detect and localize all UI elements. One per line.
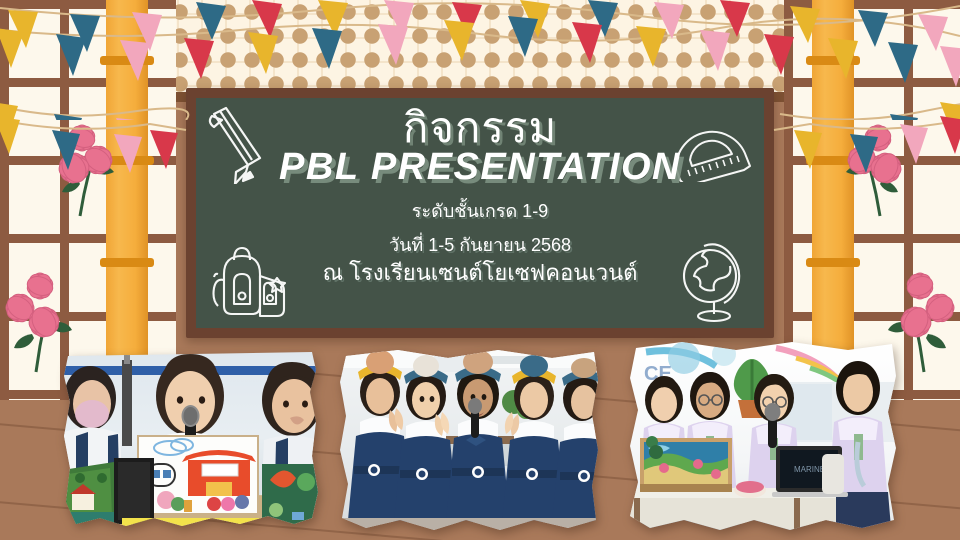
subtitle-date: วันที่ 1-5 กันยายน 2568	[196, 233, 764, 257]
poster-canvas: กิจกรรม PBL PRESENTATION ระดับชั้นเกรด 1…	[0, 0, 960, 540]
photo1-caption: SARISA G.1/1	[130, 522, 221, 538]
photo-diorama-presentation[interactable]: SARISA G.1/1	[62, 352, 320, 540]
bunting-decoration-side	[0, 100, 960, 200]
subtitle-grade: ระดับชั้นเกรด 1-9	[196, 199, 764, 223]
photo-group-performance[interactable]	[338, 350, 600, 540]
subtitle-venue: ณ โรงเรียนเซนต์โยเซฟคอนเวนต์	[196, 258, 764, 288]
photo-laptop-presentation[interactable]: CE	[626, 342, 898, 540]
svg-text:MARINE: MARINE	[794, 465, 825, 474]
